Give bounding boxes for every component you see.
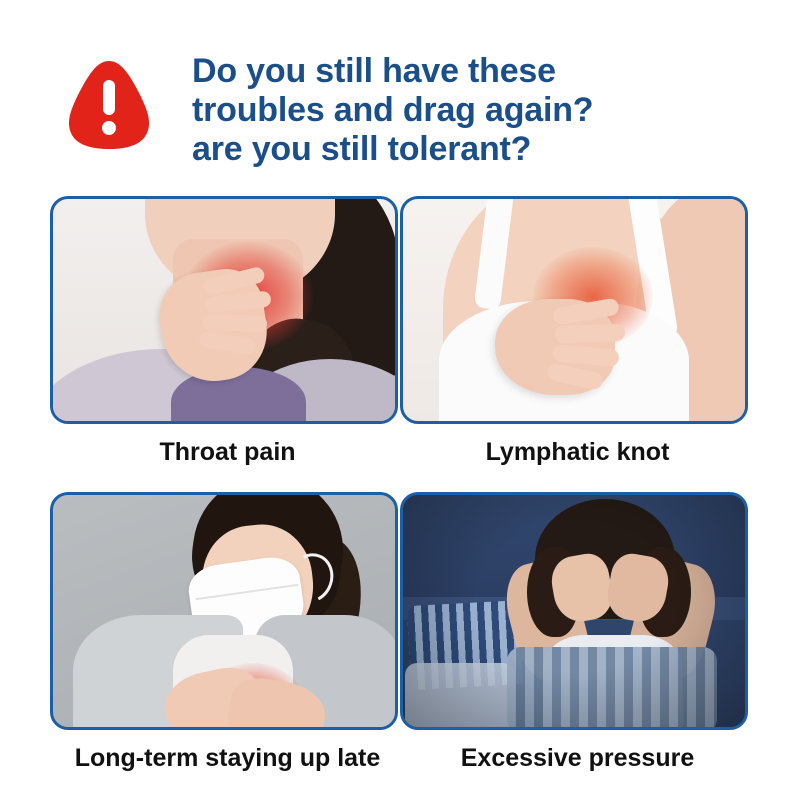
card-caption: Long-term staying up late xyxy=(50,744,405,772)
symptom-card-excessive-pressure: Excessive pressure xyxy=(400,492,755,772)
symptom-card-grid: Throat pain Lymphatic knot xyxy=(0,196,800,800)
finger-shape xyxy=(555,324,626,343)
poster-header: Do you still have these troubles and dra… xyxy=(0,0,800,196)
headline-line-2: troubles and drag again? xyxy=(192,91,772,130)
lymphatic-knot-photo xyxy=(400,196,748,424)
card-caption: Excessive pressure xyxy=(400,744,755,772)
card-caption: Lymphatic knot xyxy=(400,438,755,466)
staying-up-late-photo xyxy=(50,492,398,730)
headline-line-1: Do you still have these xyxy=(192,52,772,91)
card-caption: Throat pain xyxy=(50,438,405,466)
page-title: Do you still have these troubles and dra… xyxy=(192,52,772,169)
photo-vignette xyxy=(403,495,745,727)
finger-shape xyxy=(203,314,268,332)
symptom-card-lymphatic-knot: Lymphatic knot xyxy=(400,196,755,466)
promo-poster: Do you still have these troubles and dra… xyxy=(0,0,800,800)
excessive-pressure-photo xyxy=(400,492,748,730)
symptom-card-throat-pain: Throat pain xyxy=(50,196,405,466)
symptom-card-staying-up-late: Long-term staying up late xyxy=(50,492,405,772)
throat-pain-photo xyxy=(50,196,398,424)
headline-line-3: are you still tolerant? xyxy=(192,130,772,169)
warning-exclamation-icon xyxy=(66,58,152,150)
